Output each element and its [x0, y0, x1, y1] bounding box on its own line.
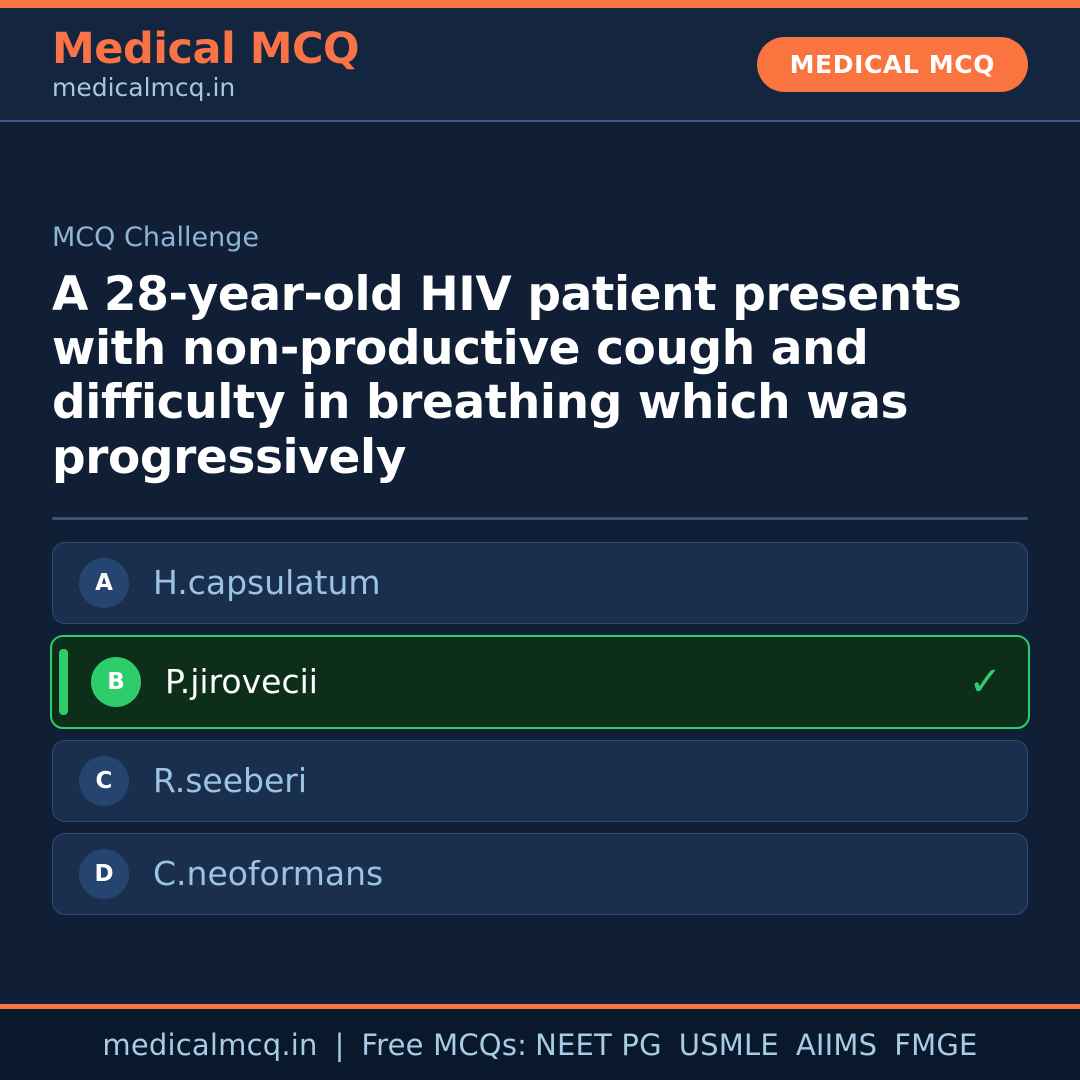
footer-separator: | [318, 1028, 362, 1062]
option-d[interactable]: D C.neoformans ✓ [52, 833, 1028, 915]
option-b[interactable]: B P.jirovecii ✓ [50, 635, 1030, 729]
top-accent-bar [0, 0, 1080, 8]
option-a-badge: A [79, 558, 129, 608]
footer-exam-aiims: AIIMS [796, 1028, 877, 1062]
option-c-label: R.seeberi [153, 761, 307, 801]
main-content: MCQ Challenge A 28-year-old HIV patient … [0, 122, 1080, 1004]
footer-free-label: Free MCQs: [361, 1028, 527, 1062]
eyebrow-label: MCQ Challenge [52, 222, 1028, 254]
option-a-label: H.capsulatum [153, 563, 381, 603]
brand-subtitle: medicalmcq.in [52, 74, 359, 102]
options-list: A H.capsulatum ✓ B P.jirovecii ✓ C R.see… [52, 542, 1028, 915]
option-c[interactable]: C R.seeberi ✓ [52, 740, 1028, 822]
footer-exam-fmge: FMGE [894, 1028, 977, 1062]
mcq-card: Medical MCQ medicalmcq.in MEDICAL MCQ MC… [0, 0, 1080, 1080]
check-icon: ✓ [968, 662, 1002, 702]
footer-exam-usmle: USMLE [679, 1028, 779, 1062]
footer: medicalmcq.in | Free MCQs: NEET PG USMLE… [0, 1009, 1080, 1080]
header-badge: MEDICAL MCQ [757, 37, 1028, 92]
option-b-label: P.jirovecii [165, 662, 318, 702]
option-a[interactable]: A H.capsulatum ✓ [52, 542, 1028, 624]
footer-exam-tags: NEET PG USMLE AIIMS FMGE [535, 1028, 977, 1062]
correct-accent-bar [59, 649, 68, 715]
question-divider [52, 517, 1028, 520]
option-d-label: C.neoformans [153, 854, 383, 894]
option-c-badge: C [79, 756, 129, 806]
option-b-badge: B [91, 657, 141, 707]
brand-title: Medical MCQ [52, 27, 359, 72]
question-text: A 28-year-old HIV patient presents with … [52, 268, 1027, 484]
footer-exam-neetpg: NEET PG [535, 1028, 662, 1062]
header: Medical MCQ medicalmcq.in MEDICAL MCQ [0, 8, 1080, 122]
brand: Medical MCQ medicalmcq.in [52, 27, 359, 102]
footer-site: medicalmcq.in [102, 1028, 317, 1062]
option-d-badge: D [79, 849, 129, 899]
